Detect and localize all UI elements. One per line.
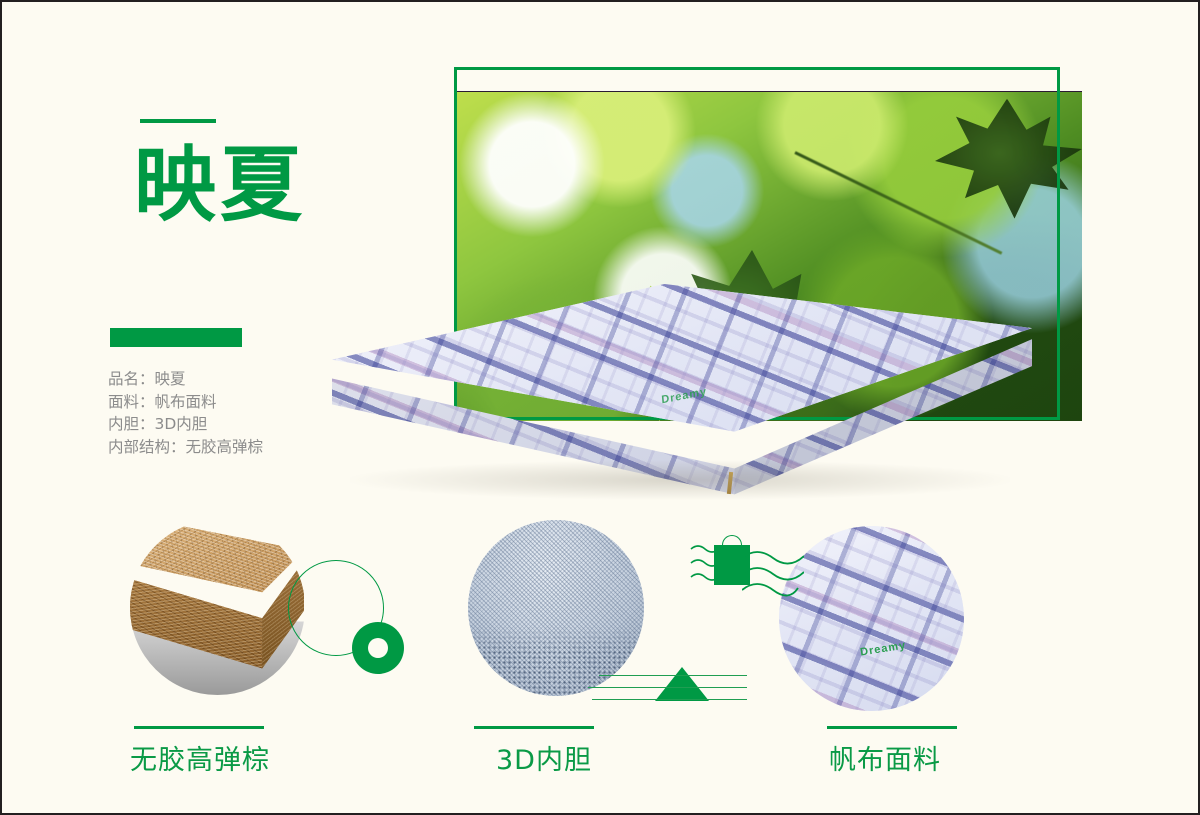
mattress-shadow [350,460,1010,500]
speed-line [599,675,747,676]
mesh-dot-texture [468,626,644,696]
mattress-product-photo: Dreamy [332,284,1032,509]
coir-block [130,524,304,676]
caption-rule [134,726,264,729]
title-accent-rule [140,119,216,123]
feature-image-coir [130,520,305,695]
poster-canvas: 映夏 品名：映夏 面料：帆布面料 内胆：3D内胆 内部结构：无胶高弹棕 Drea… [0,0,1200,815]
wavy-connector-icon [742,550,804,598]
mattress-top-surface [332,284,1032,464]
wavy-lines-icon [690,542,724,588]
feature-image-mesh3d [468,520,644,696]
caption-rule [827,726,957,729]
page-title: 映夏 [134,145,306,227]
caption-canvas-label: 帆布面料 [829,738,941,777]
speed-line [592,699,747,700]
caption-mesh3d-label: 3D内胆 [496,738,592,777]
green-donut-icon [352,622,404,674]
canvas-fabric-surface [779,526,964,711]
green-triangle-icon [655,667,709,701]
caption-coir-label: 无胶高弹棕 [130,738,270,777]
caption-rule [474,726,594,729]
spec-accent-bar [110,328,242,347]
feature-image-canvas: Dreamy [779,526,964,711]
speed-line [588,687,747,688]
